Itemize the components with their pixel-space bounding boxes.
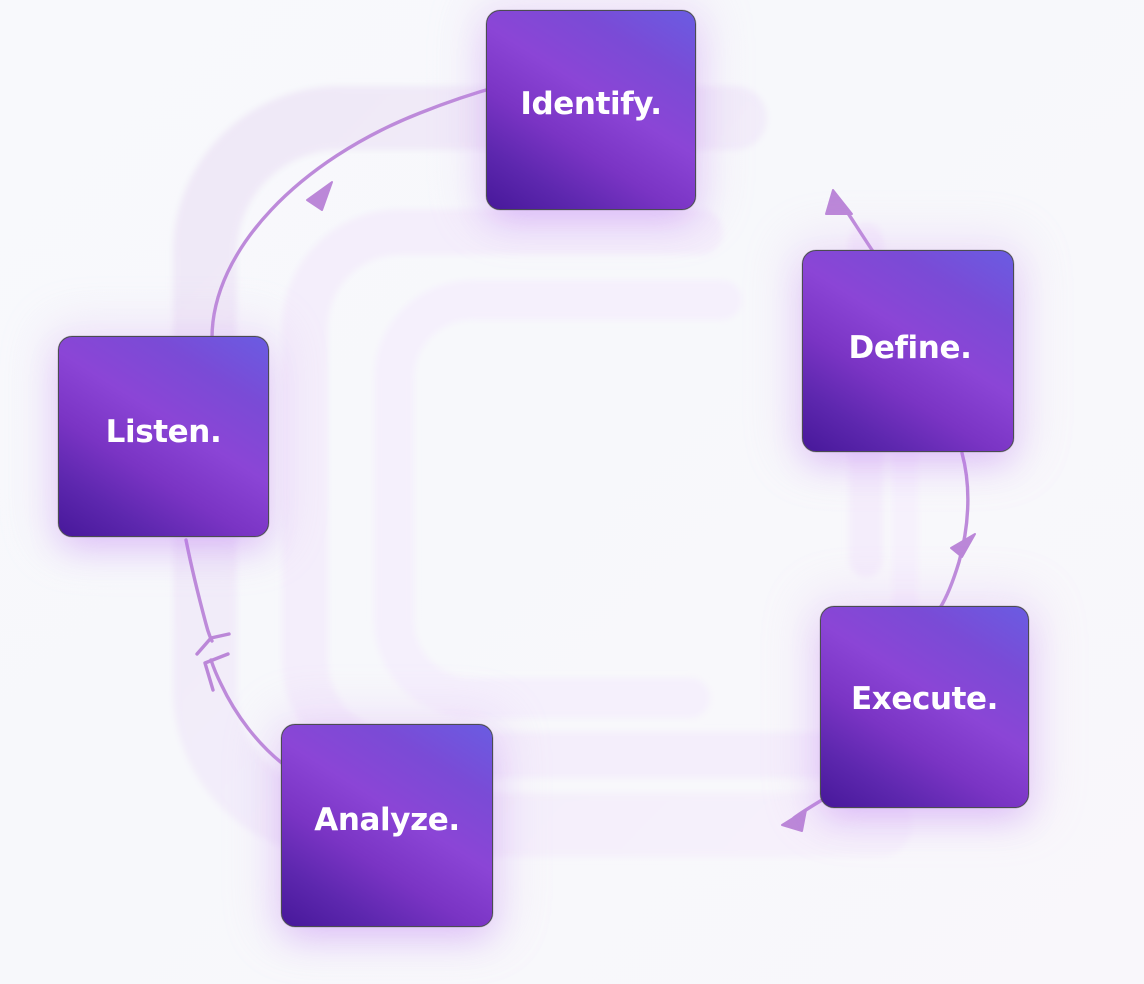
- node-card-identify[interactable]: Identify.: [486, 10, 696, 210]
- arrowhead-filled: [307, 182, 332, 210]
- edge-analyze-to-listen: [186, 540, 283, 764]
- node-card-listen[interactable]: Listen.: [58, 336, 269, 537]
- arrowhead-filled: [782, 810, 806, 831]
- node-label-analyze: Analyze.: [314, 805, 459, 836]
- node-label-define: Define.: [849, 333, 972, 364]
- arrowhead-filled: [826, 190, 852, 214]
- node-label-listen: Listen.: [106, 417, 222, 448]
- arrowhead-open: [197, 634, 229, 654]
- node-label-execute: Execute.: [851, 684, 998, 715]
- arrowhead-open: [205, 654, 228, 690]
- node-card-execute[interactable]: Execute.: [820, 606, 1029, 808]
- edge-listen-to-identify: [212, 86, 500, 338]
- arrowhead-filled: [951, 534, 975, 557]
- edge-identify-to-define: [826, 190, 874, 253]
- edge-execute-to-analyze: [782, 800, 822, 831]
- node-card-analyze[interactable]: Analyze.: [281, 724, 493, 927]
- node-label-identify: Identify.: [520, 89, 661, 120]
- diagram-canvas: Identify. Define. Execute. Analyze. List…: [0, 0, 1144, 984]
- edge-define-to-execute: [940, 453, 975, 608]
- node-card-define[interactable]: Define.: [802, 250, 1014, 452]
